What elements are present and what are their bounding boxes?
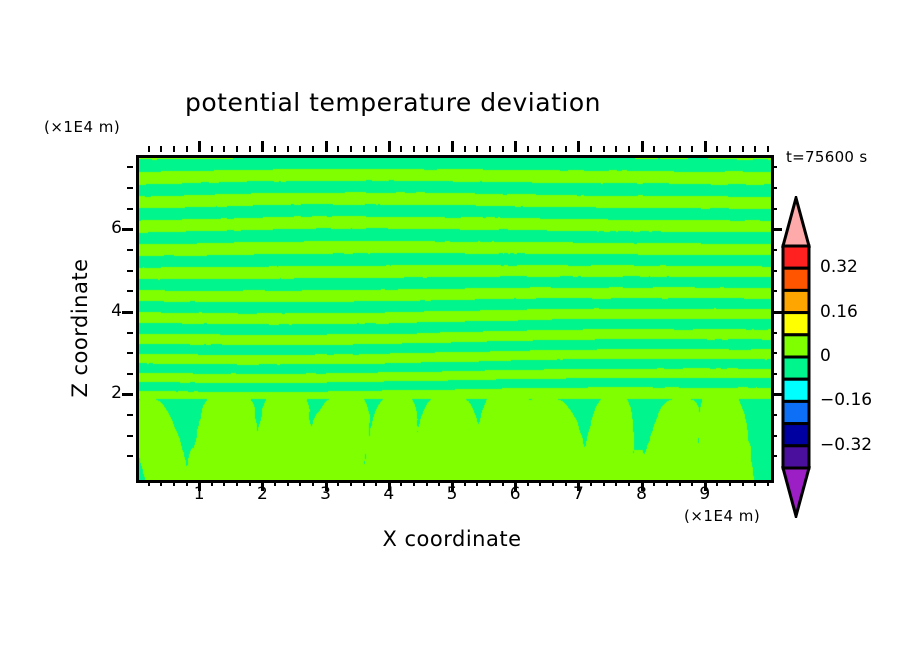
colorbar bbox=[772, 196, 820, 518]
z-minor-tick bbox=[127, 435, 133, 437]
y-axis-unit-label: (×1E4 m) bbox=[44, 118, 120, 136]
x-tick-label: 1 bbox=[187, 484, 211, 504]
x-minor-tick bbox=[464, 480, 466, 486]
x-minor-tick-top bbox=[337, 146, 339, 152]
x-minor-tick-top bbox=[160, 146, 162, 152]
x-minor-tick bbox=[666, 480, 668, 486]
x-minor-tick-top bbox=[615, 146, 617, 152]
z-minor-tick-right bbox=[771, 166, 777, 168]
x-minor-tick-top bbox=[426, 146, 428, 152]
x-minor-tick-top bbox=[552, 146, 554, 152]
colorbar-tick-label: 0 bbox=[820, 346, 831, 366]
x-minor-tick-top bbox=[223, 146, 225, 152]
x-minor-tick-top bbox=[173, 146, 175, 152]
x-minor-tick-top bbox=[186, 146, 188, 152]
x-minor-tick bbox=[476, 480, 478, 486]
x-major-tick-top bbox=[641, 141, 644, 152]
x-minor-tick-top bbox=[274, 146, 276, 152]
x-minor-tick-top bbox=[754, 146, 756, 152]
x-axis-title: X coordinate bbox=[136, 527, 768, 551]
colorbar-band-red bbox=[783, 246, 809, 268]
x-tick-label: 7 bbox=[566, 484, 590, 504]
x-minor-tick bbox=[413, 480, 415, 486]
x-minor-tick bbox=[539, 480, 541, 486]
x-minor-tick-top bbox=[312, 146, 314, 152]
z-minor-tick bbox=[127, 208, 133, 210]
x-minor-tick-top bbox=[464, 146, 466, 152]
x-tick-label: 9 bbox=[693, 484, 717, 504]
x-minor-tick bbox=[363, 480, 365, 486]
x-minor-tick-top bbox=[350, 146, 352, 152]
x-minor-tick bbox=[527, 480, 529, 486]
z-minor-tick bbox=[127, 455, 133, 457]
x-minor-tick-top bbox=[565, 146, 567, 152]
x-minor-tick-top bbox=[729, 146, 731, 152]
x-minor-tick bbox=[223, 480, 225, 486]
x-axis-unit-label: (×1E4 m) bbox=[684, 507, 760, 525]
z-tick-label: 4 bbox=[98, 301, 122, 321]
colorbar-band-orange-red bbox=[783, 268, 809, 290]
x-minor-tick bbox=[148, 480, 150, 486]
z-minor-tick bbox=[127, 352, 133, 354]
colorbar-tick-label: −0.16 bbox=[820, 390, 872, 410]
x-minor-tick-top bbox=[299, 146, 301, 152]
x-minor-tick-top bbox=[742, 146, 744, 152]
colorbar-tick-label: 0.32 bbox=[820, 257, 858, 277]
x-tick-label: 8 bbox=[630, 484, 654, 504]
x-minor-tick-top bbox=[691, 146, 693, 152]
x-minor-tick-top bbox=[476, 146, 478, 152]
x-minor-tick bbox=[160, 480, 162, 486]
x-minor-tick bbox=[211, 480, 213, 486]
contour-plot-area bbox=[136, 155, 774, 483]
z-major-tick bbox=[122, 311, 133, 314]
colorbar-band-spring-green bbox=[783, 357, 809, 379]
x-minor-tick bbox=[603, 480, 605, 486]
contour-field bbox=[139, 158, 771, 480]
x-minor-tick bbox=[236, 480, 238, 486]
colorbar-band-orange bbox=[783, 290, 809, 312]
x-minor-tick-top bbox=[413, 146, 415, 152]
x-minor-tick bbox=[679, 480, 681, 486]
z-minor-tick bbox=[127, 414, 133, 416]
x-minor-tick bbox=[350, 480, 352, 486]
colorbar-tick-label: −0.32 bbox=[820, 435, 872, 455]
x-minor-tick-top bbox=[287, 146, 289, 152]
x-minor-tick bbox=[489, 480, 491, 486]
x-minor-tick bbox=[615, 480, 617, 486]
colorbar-band-indigo bbox=[783, 446, 809, 468]
x-major-tick-top bbox=[198, 141, 201, 152]
x-minor-tick-top bbox=[375, 146, 377, 152]
z-minor-tick bbox=[127, 249, 133, 251]
colorbar-band-yellow bbox=[783, 313, 809, 335]
x-major-tick-top bbox=[451, 141, 454, 152]
x-minor-tick bbox=[299, 480, 301, 486]
time-annotation: t=75600 s bbox=[786, 148, 867, 166]
x-minor-tick-top bbox=[148, 146, 150, 152]
x-minor-tick bbox=[742, 480, 744, 486]
x-major-tick-top bbox=[388, 141, 391, 152]
colorbar-svg bbox=[772, 196, 820, 518]
z-minor-tick bbox=[127, 187, 133, 189]
x-minor-tick bbox=[173, 480, 175, 486]
z-minor-tick bbox=[127, 373, 133, 375]
x-minor-tick-top bbox=[502, 146, 504, 152]
x-minor-tick-top bbox=[438, 146, 440, 152]
z-minor-tick bbox=[127, 166, 133, 168]
x-major-tick-top bbox=[514, 141, 517, 152]
x-major-tick-top bbox=[261, 141, 264, 152]
x-minor-tick bbox=[754, 480, 756, 486]
x-minor-tick bbox=[287, 480, 289, 486]
colorbar-cap-high bbox=[783, 198, 809, 246]
x-tick-label: 2 bbox=[250, 484, 274, 504]
z-tick-label: 2 bbox=[98, 383, 122, 403]
colorbar-tick-label: 0.16 bbox=[820, 302, 858, 322]
z-minor-tick bbox=[127, 290, 133, 292]
z-tick-label: 6 bbox=[98, 218, 122, 238]
x-tick-label: 5 bbox=[440, 484, 464, 504]
x-minor-tick-top bbox=[363, 146, 365, 152]
x-minor-tick bbox=[767, 480, 769, 486]
x-minor-tick-top bbox=[628, 146, 630, 152]
x-minor-tick-top bbox=[679, 146, 681, 152]
x-minor-tick-top bbox=[489, 146, 491, 152]
x-minor-tick bbox=[729, 480, 731, 486]
x-minor-tick-top bbox=[590, 146, 592, 152]
x-minor-tick-top bbox=[527, 146, 529, 152]
z-minor-tick bbox=[127, 270, 133, 272]
z-minor-tick-right bbox=[771, 187, 777, 189]
x-minor-tick-top bbox=[539, 146, 541, 152]
x-tick-label: 4 bbox=[377, 484, 401, 504]
x-major-tick-top bbox=[704, 141, 707, 152]
x-tick-label: 6 bbox=[503, 484, 527, 504]
page-title: potential temperature deviation bbox=[0, 88, 786, 117]
colorbar-band-blue bbox=[783, 401, 809, 423]
colorbar-band-chartreuse bbox=[783, 335, 809, 357]
x-minor-tick-top bbox=[249, 146, 251, 152]
x-minor-tick-top bbox=[716, 146, 718, 152]
x-minor-tick-top bbox=[767, 146, 769, 152]
x-minor-tick-top bbox=[666, 146, 668, 152]
x-minor-tick-top bbox=[211, 146, 213, 152]
x-minor-tick bbox=[426, 480, 428, 486]
x-major-tick-top bbox=[325, 141, 328, 152]
x-tick-label: 3 bbox=[314, 484, 338, 504]
y-axis-title: Z coordinate bbox=[68, 208, 92, 448]
x-minor-tick-top bbox=[653, 146, 655, 152]
colorbar-band-cyan bbox=[783, 379, 809, 401]
x-minor-tick-top bbox=[400, 146, 402, 152]
z-minor-tick bbox=[127, 332, 133, 334]
x-minor-tick-top bbox=[236, 146, 238, 152]
colorbar-cap-low bbox=[783, 468, 809, 516]
x-minor-tick bbox=[552, 480, 554, 486]
z-major-tick bbox=[122, 228, 133, 231]
x-major-tick-top bbox=[577, 141, 580, 152]
z-major-tick bbox=[122, 393, 133, 396]
colorbar-band-navy bbox=[783, 424, 809, 446]
x-minor-tick-top bbox=[603, 146, 605, 152]
